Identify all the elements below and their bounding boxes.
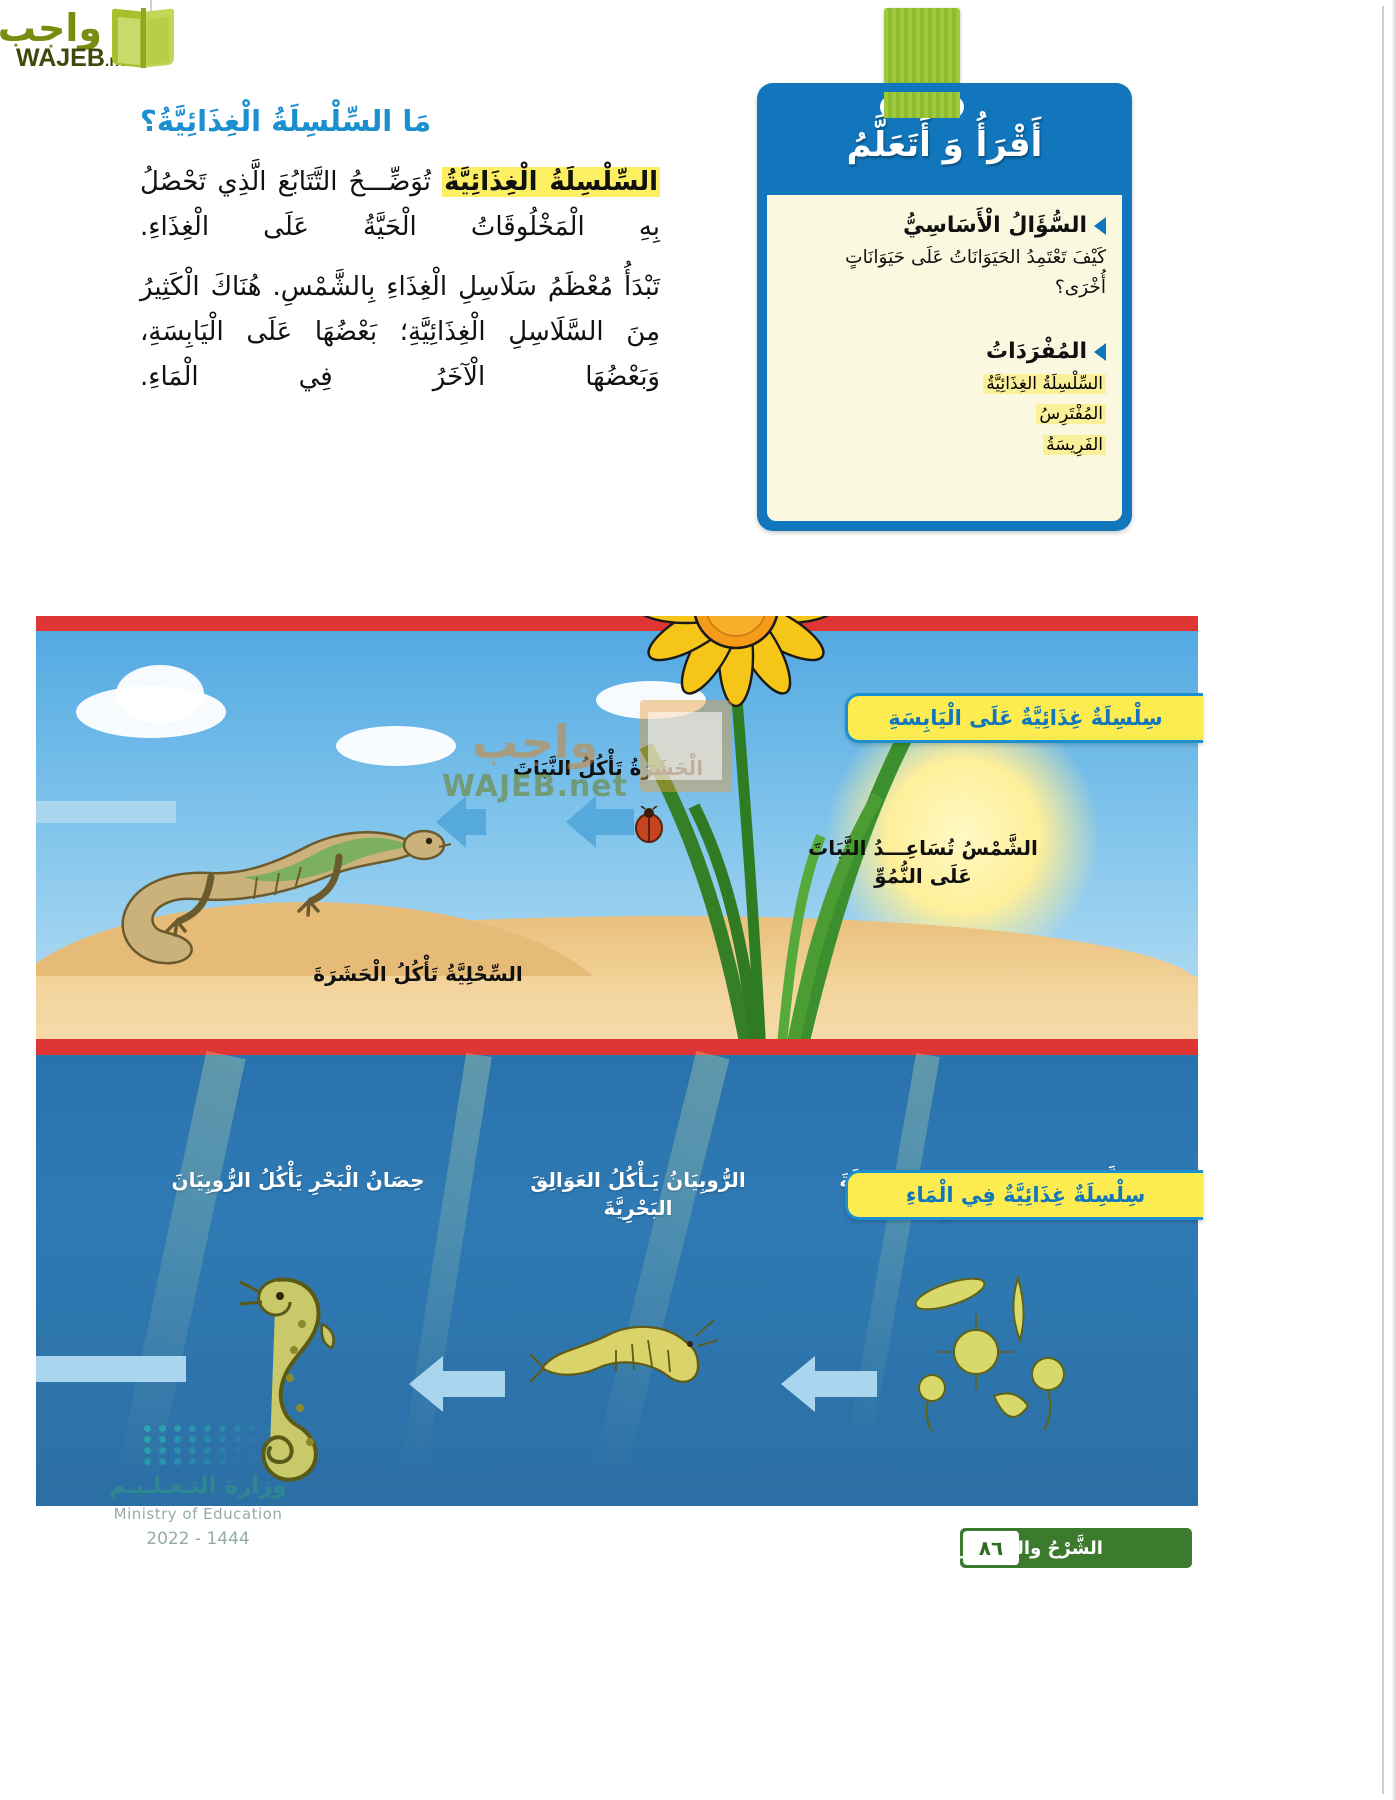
label-sun-helps-plant: الشَّمْسُ تُسَاعِـــدُ النَّبَاتَ عَلَى … — [808, 834, 1038, 891]
essential-question-heading: السُّؤَالُ الْأَسَاسِيُّ — [903, 213, 1087, 238]
triangle-bullet-icon — [1094, 217, 1106, 235]
vocabulary-item-label: السِّلْسِلَةُ الغِذَائِيَّةُ — [983, 374, 1106, 394]
textbook-page: واجب WAJEB.net مَا السِّلْسِلَةُ الْغِذَ… — [0, 0, 1396, 1800]
shrimp-icon — [528, 1306, 718, 1416]
ministry-years: 2022 - 1444 — [78, 1529, 318, 1549]
page-edge-line — [1382, 6, 1384, 1794]
arrow-left-icon — [36, 801, 176, 823]
essential-question-body: كَيْفَ تَعْتَمِدُ الحَيَوَانَاتُ عَلَى ح… — [806, 243, 1106, 303]
wajeb-logo: واجب WAJEB.net — [8, 4, 178, 78]
arrow-left-icon — [36, 1356, 186, 1382]
label-lizard-eats-insect: السِّحْلِيَّةُ تَأْكُلُ الْحَشَرَةَ — [258, 960, 578, 988]
label-shrimp-eats-plankton: الرُّوبِيَانُ يَـأْكُلُ العَوَالِقَ البَ… — [498, 1166, 778, 1223]
page-edge-shadow — [1388, 0, 1396, 1800]
vocabulary-section: المُفْرَدَاتُ السِّلْسِلَةُ الغِذَائِيَّ… — [983, 339, 1106, 460]
vocabulary-heading: المُفْرَدَاتُ — [986, 339, 1087, 364]
food-chain-illustration: الشَّمْسُ تُسَاعِـــدُ النَّبَاتَ عَلَى … — [36, 616, 1198, 1506]
cloud-icon — [116, 665, 204, 723]
logo-dots-icon — [144, 1425, 294, 1467]
arrow-left-icon — [436, 796, 486, 848]
ministry-arabic: وزارة التـعـلـيـم — [78, 1473, 318, 1499]
vocabulary-item: المُفْتَرِسُ — [983, 399, 1106, 429]
paragraph-2: تَبْدَأُ مُعْظَمُ سَلَاسِلِ الْغِذَاءِ ب… — [140, 265, 660, 399]
open-book-icon — [112, 8, 176, 70]
label-seahorse-eats-shrimp: حِصَانُ الْبَحْرِ يَأْكُلُ الرُّوبِيَانَ — [158, 1166, 438, 1194]
vocabulary-list: السِّلْسِلَةُ الغِذَائِيَّةُ المُفْتَرِس… — [983, 369, 1106, 460]
page-number-badge: ٨٦ — [963, 1531, 1019, 1565]
vocabulary-item-label: الفَرِيسَةُ — [1043, 435, 1106, 455]
arrow-left-icon — [781, 1356, 877, 1412]
page-title: مَا السِّلْسِلَةُ الْغِذَائِيَّةُ؟ — [140, 100, 660, 142]
paragraph-1: السِّلْسِلَةُ الْغِذَائِيَّةُ تُوَضِّـــ… — [140, 160, 660, 249]
ministry-of-education-logo: وزارة التـعـلـيـم Ministry of Education … — [78, 1425, 318, 1565]
card-content-panel: السُّؤَالُ الْأَسَاسِيُّ كَيْفَ تَعْتَمِ… — [767, 195, 1122, 521]
arrow-left-icon — [409, 1356, 505, 1412]
plankton-icon — [898, 1256, 1118, 1456]
vocabulary-item: الفَرِيسَةُ — [983, 430, 1106, 460]
term-food-chain-highlight: السِّلْسِلَةُ الْغِذَائِيَّةُ — [442, 167, 660, 197]
essential-question-heading-row: السُّؤَالُ الْأَسَاسِيُّ — [806, 213, 1106, 238]
watermark-open-book-pages — [648, 712, 722, 780]
banner-land-food-chain: سِلْسِلَةٌ غِذَائِيَّةٌ عَلَى الْيَابِسَ… — [845, 693, 1203, 743]
vocabulary-item-label: المُفْتَرِسُ — [1036, 404, 1106, 424]
vocabulary-item: السِّلْسِلَةُ الغِذَائِيَّةُ — [983, 369, 1106, 399]
article-body: مَا السِّلْسِلَةُ الْغِذَائِيَّةُ؟ السِّ… — [140, 100, 660, 416]
ribbon-notch-fill — [884, 92, 960, 118]
banner-water-food-chain: سِلْسِلَةٌ غِذَائِيَّةٌ فِي الْمَاءِ — [845, 1170, 1203, 1220]
essential-question-section: السُّؤَالُ الْأَسَاسِيُّ كَيْفَ تَعْتَمِ… — [806, 213, 1106, 303]
read-and-learn-card: أَقْرَأُ وَ أَتَعَلَّمُ السُّؤَالُ الْأَ… — [757, 83, 1132, 531]
flower-head — [636, 616, 836, 706]
triangle-bullet-icon — [1094, 343, 1106, 361]
ministry-english: Ministry of Education — [78, 1505, 318, 1523]
card-title: أَقْرَأُ وَ أَتَعَلَّمُ — [757, 125, 1132, 165]
cloud-icon — [336, 726, 456, 766]
vocabulary-heading-row: المُفْرَدَاتُ — [983, 339, 1106, 364]
arrow-left-icon — [566, 796, 634, 848]
